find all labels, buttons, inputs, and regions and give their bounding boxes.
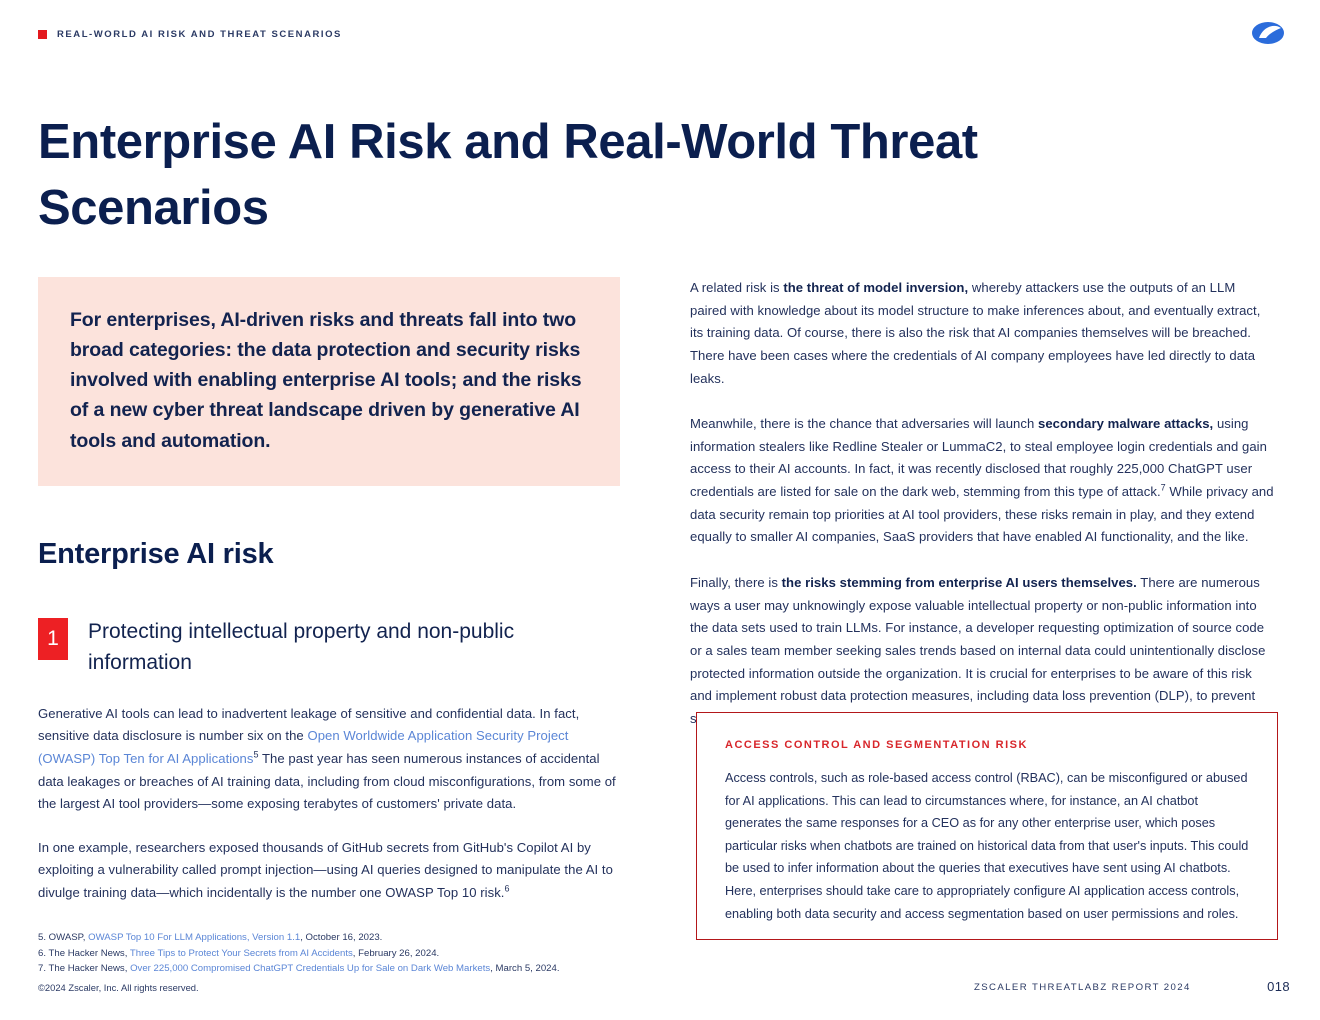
callout-text: Access controls, such as role-based acce… — [725, 767, 1249, 925]
right-p3-bold: the risks stemming from enterprise AI us… — [782, 575, 1137, 590]
right-p3-rest: There are numerous ways a user may unkno… — [690, 575, 1265, 726]
footnote-5: 5. OWASP, OWASP Top 10 For LLM Applicati… — [38, 930, 638, 946]
right-paragraph-1: A related risk is the threat of model in… — [690, 277, 1274, 390]
item-number-badge: 1 — [38, 618, 68, 660]
footer-report-name: ZSCALER THREATLABZ REPORT 2024 — [974, 982, 1191, 993]
document-page: REAL-WORLD AI RISK AND THREAT SCENARIOS … — [0, 0, 1320, 1020]
left-paragraph-2: In one example, researchers exposed thou… — [38, 837, 620, 905]
left-p2-part1: In one example, researchers exposed thou… — [38, 840, 613, 900]
footnote-ref-6: 6 — [505, 884, 510, 894]
footnote-7-link[interactable]: Over 225,000 Compromised ChatGPT Credent… — [130, 963, 490, 974]
footnote-5-prefix: 5. OWASP, — [38, 932, 88, 943]
running-head-marker-icon — [38, 30, 47, 39]
callout-title: ACCESS CONTROL AND SEGMENTATION RISK — [725, 739, 1249, 751]
footnote-7: 7. The Hacker News, Over 225,000 Comprom… — [38, 961, 638, 977]
pullquote-box: For enterprises, AI-driven risks and thr… — [38, 277, 620, 486]
footnote-6-suffix: , February 26, 2024. — [353, 948, 439, 959]
right-p1-rest: whereby attackers use the outputs of an … — [690, 280, 1260, 386]
footnote-6-prefix: 6. The Hacker News, — [38, 948, 130, 959]
footer-copyright: ©2024 Zscaler, Inc. All rights reserved. — [38, 982, 199, 993]
right-p1-bold: the threat of model inversion, — [783, 280, 968, 295]
item-title: Protecting intellectual property and non… — [88, 616, 620, 679]
numbered-item: 1 Protecting intellectual property and n… — [38, 616, 620, 679]
pullquote-text: For enterprises, AI-driven risks and thr… — [70, 305, 588, 456]
page-title: Enterprise AI Risk and Real-World Threat… — [38, 109, 1048, 242]
right-column: A related risk is the threat of model in… — [690, 277, 1274, 744]
section-heading: Enterprise AI risk — [38, 538, 620, 571]
right-paragraph-2: Meanwhile, there is the chance that adve… — [690, 413, 1274, 549]
zscaler-logo — [1246, 18, 1290, 48]
right-p3-lead: Finally, there is — [690, 575, 782, 590]
running-head-text: REAL-WORLD AI RISK AND THREAT SCENARIOS — [57, 29, 342, 40]
right-p2-lead: Meanwhile, there is the chance that adve… — [690, 416, 1038, 431]
footnote-6: 6. The Hacker News, Three Tips to Protec… — [38, 946, 638, 962]
right-p2-bold: secondary malware attacks, — [1038, 416, 1213, 431]
footnote-5-suffix: , October 16, 2023. — [300, 932, 382, 943]
running-head: REAL-WORLD AI RISK AND THREAT SCENARIOS — [38, 29, 342, 40]
left-paragraph-1: Generative AI tools can lead to inadvert… — [38, 703, 620, 816]
footer-page-number: 018 — [1267, 979, 1290, 994]
right-p1-lead: A related risk is — [690, 280, 783, 295]
left-column: For enterprises, AI-driven risks and thr… — [38, 277, 620, 918]
footnote-5-link[interactable]: OWASP Top 10 For LLM Applications, Versi… — [88, 932, 300, 943]
access-control-callout-box: ACCESS CONTROL AND SEGMENTATION RISK Acc… — [696, 712, 1278, 940]
footnote-7-suffix: , March 5, 2024. — [490, 963, 559, 974]
footnote-7-prefix: 7. The Hacker News, — [38, 963, 130, 974]
right-paragraph-3: Finally, there is the risks stemming fro… — [690, 572, 1274, 730]
footnotes: 5. OWASP, OWASP Top 10 For LLM Applicati… — [38, 930, 638, 977]
footnote-6-link[interactable]: Three Tips to Protect Your Secrets from … — [130, 948, 353, 959]
